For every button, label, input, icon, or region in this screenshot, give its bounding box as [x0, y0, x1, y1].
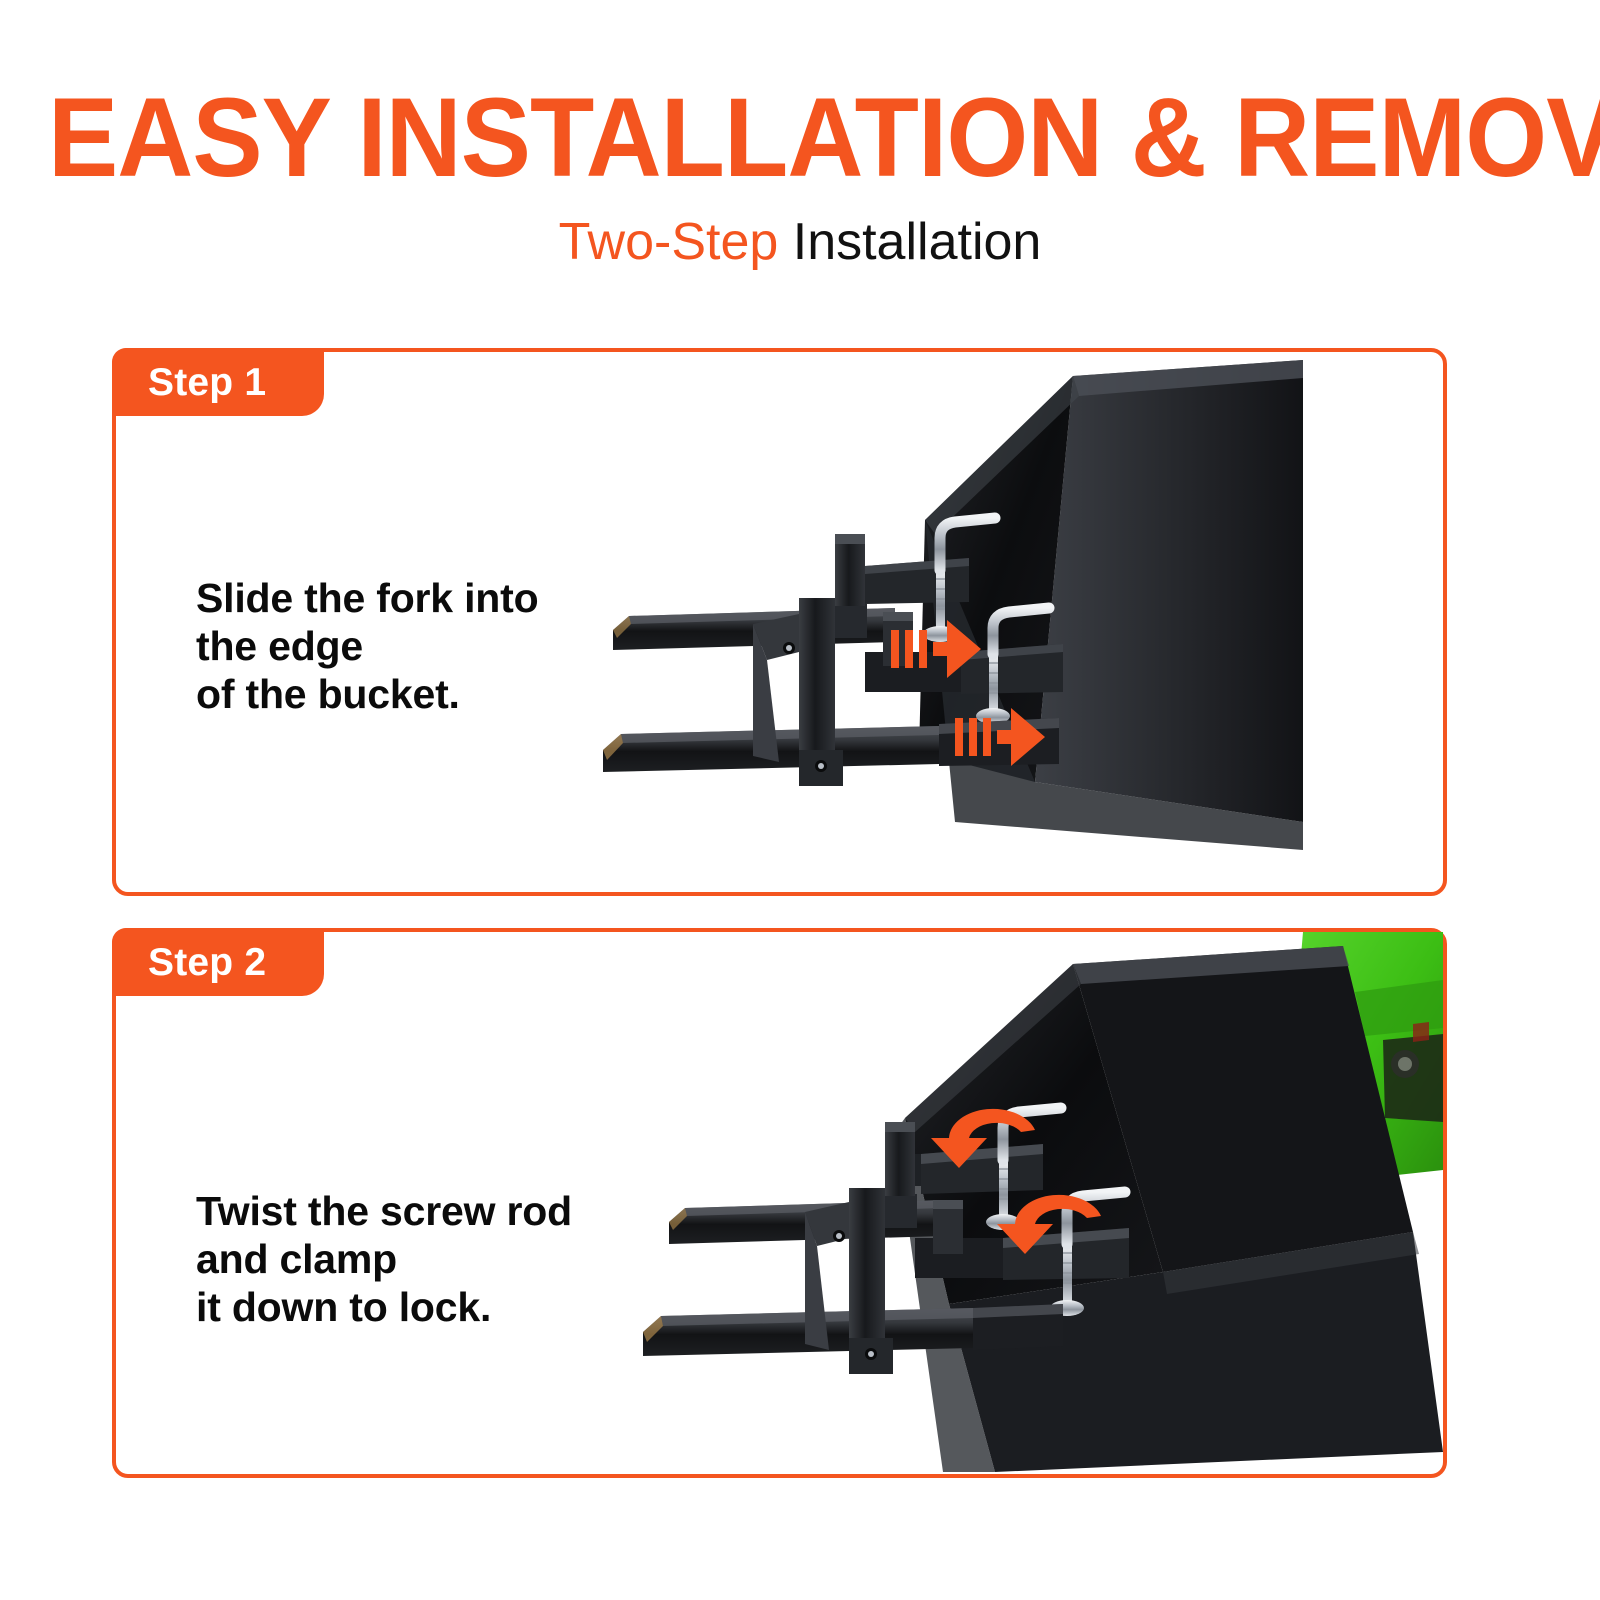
- fork-blade-lower-cap: [973, 1304, 1063, 1350]
- subtitle-rest: Installation: [778, 213, 1041, 271]
- screw-rod-lower: [1050, 1244, 1084, 1316]
- step-1-instruction: Slide the fork into the edge of the buck…: [196, 574, 538, 718]
- motion-arrow-lower: [955, 708, 1045, 766]
- pallet-fork-blade-upper: [669, 1200, 943, 1244]
- step-2-tab: Step 2: [112, 928, 324, 996]
- page-title: EASY INSTALLATION & REMOVAL: [48, 82, 1552, 194]
- square-tube-frame: [753, 534, 961, 786]
- chrome-handle-lower: [1067, 1192, 1125, 1244]
- chrome-handle-upper: [1003, 1108, 1061, 1160]
- step-1-illustration: [603, 352, 1443, 892]
- pallet-fork-blade-lower: [603, 726, 939, 772]
- step-2-illustration: [643, 932, 1443, 1474]
- square-tube-frame: [805, 1122, 1005, 1374]
- infographic-page: EASY INSTALLATION & REMOVAL Two-Step Ins…: [0, 0, 1600, 1600]
- screw-rod-lower: [976, 654, 1010, 724]
- rotation-arrow-upper: [931, 1109, 1035, 1168]
- step-1-tab-label: Step 1: [148, 363, 266, 402]
- motion-arrow-upper: [891, 620, 981, 678]
- clamp-bracket-lower: [961, 644, 1063, 694]
- step-2-tab-label: Step 2: [148, 943, 266, 982]
- step-card-2: Step 2 Twist the screw rod and clamp it …: [112, 928, 1447, 1478]
- green-tractor-loader-arm: [1293, 932, 1443, 1182]
- clamp-bracket-upper: [865, 558, 969, 604]
- screw-rod-upper: [986, 1160, 1020, 1230]
- step-1-tab: Step 1: [112, 348, 324, 416]
- loader-bucket: [895, 946, 1443, 1472]
- clamp-bracket-lower: [1003, 1228, 1129, 1280]
- pallet-fork-blade-lower: [643, 1308, 973, 1356]
- loader-bucket: [919, 360, 1303, 850]
- pallet-fork-blade-upper: [613, 608, 895, 650]
- page-subtitle: Two-Step Installation: [0, 212, 1600, 272]
- step-2-instruction: Twist the screw rod and clamp it down to…: [196, 1187, 572, 1331]
- clamp-bracket-upper: [921, 1144, 1043, 1194]
- step-card-1: Step 1 Slide the fork into the edge of t…: [112, 348, 1447, 896]
- chrome-handle-upper: [940, 518, 995, 570]
- rotation-arrow-lower: [997, 1195, 1101, 1254]
- chrome-handle-lower: [993, 608, 1049, 654]
- fork-blade-lower-cap: [939, 718, 1059, 766]
- screw-rod-upper: [923, 570, 957, 642]
- subtitle-highlight: Two-Step: [559, 213, 779, 271]
